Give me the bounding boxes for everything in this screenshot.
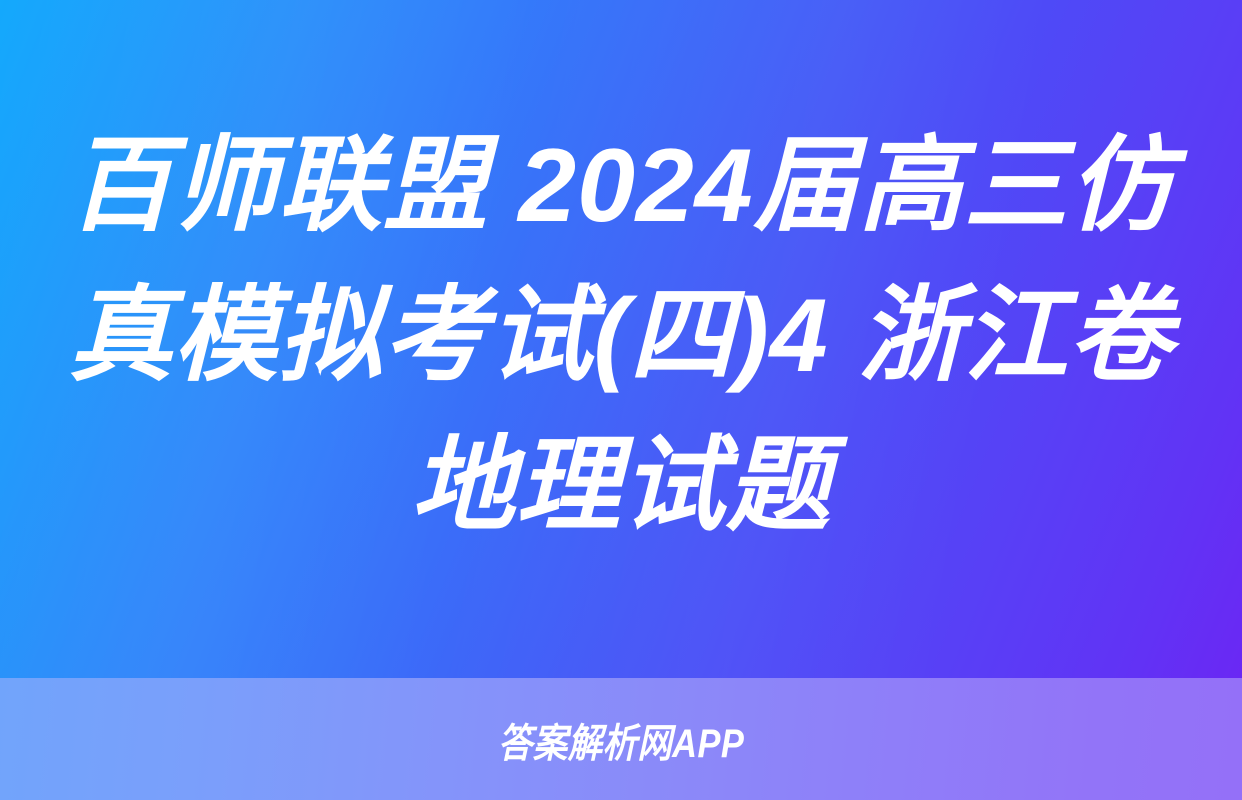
- cover-hero-gradient: 百师联盟 2024届高三仿 真模拟考试(四)4 浙江卷 地理试题: [0, 0, 1242, 678]
- page-title: 百师联盟 2024届高三仿 真模拟考试(四)4 浙江卷 地理试题: [66, 111, 1176, 567]
- title-line-2: 真模拟考试(四)4 浙江卷: [66, 261, 1176, 411]
- app-watermark-label: 答案解析网APP: [498, 711, 744, 769]
- title-line-1: 百师联盟 2024届高三仿: [66, 111, 1176, 261]
- watermark-band: 答案解析网APP: [0, 678, 1242, 800]
- title-line-3: 地理试题: [66, 411, 1176, 561]
- exam-paper-cover-card: 百师联盟 2024届高三仿 真模拟考试(四)4 浙江卷 地理试题 答案解析网AP…: [0, 0, 1242, 800]
